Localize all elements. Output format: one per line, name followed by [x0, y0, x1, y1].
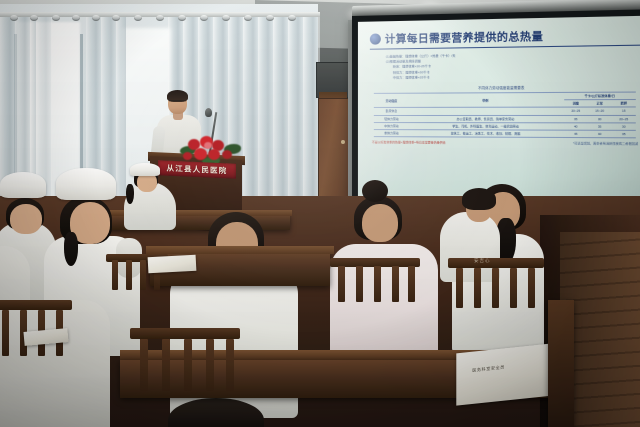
- microphone-icon: [205, 108, 212, 117]
- paper-notes[interactable]: [148, 255, 197, 273]
- table-row: 卧床休息 20~25 15~20 15: [374, 107, 636, 115]
- table-row: 重体力劳动 建筑工、搬运工、冶炼工、伐木、收割、挖掘、舞蹈 45 40 35: [374, 130, 636, 138]
- slide-title: 计算每日需要营养提供的总热量: [385, 28, 543, 46]
- table-cell: 15: [612, 107, 636, 115]
- table-cell: [409, 108, 564, 116]
- table-header-cell: 举例: [409, 92, 564, 107]
- table-header-cell: 劳动强度: [374, 93, 410, 108]
- table-cell: 30: [612, 123, 636, 131]
- table-cell: 建筑工、搬运工、冶炼工、伐木、收割、挖掘、舞蹈: [409, 130, 564, 138]
- room-door[interactable]: [318, 98, 350, 198]
- table-cell: 重体力劳动: [374, 130, 410, 137]
- door-knob-icon[interactable]: [341, 140, 345, 144]
- bench-top: [146, 246, 334, 254]
- numbered-bullet-icon: [370, 33, 381, 44]
- table-cell: 45: [564, 130, 588, 138]
- lecture-room-photo: 计算每日需要营养提供的总热量 (1)基础热量：理想体重（公斤）×热量（千卡）/天…: [0, 0, 640, 427]
- table-cell: 35: [588, 123, 612, 131]
- slide-data-table: 劳动强度 举例 千卡/公斤标准体重/日 消瘦 正常 肥胖 卧床休息 20~25 …: [374, 92, 636, 139]
- paper-sign-table[interactable]: 医务科室安全员: [456, 342, 561, 405]
- table-cell: 15~20: [588, 107, 612, 115]
- table-cell: 20~25: [564, 107, 588, 115]
- table-header-cell: 肥胖: [612, 100, 636, 108]
- table-cell: 35: [564, 115, 588, 123]
- table-header-cell: 正常: [588, 100, 612, 108]
- table-cell: 卧床休息: [374, 108, 410, 115]
- slide-body: (1)基础热量：理想体重（公斤）×热量（千卡）/天 (2)根据活动量及病情调整 …: [370, 51, 640, 81]
- table-header-cell: 消瘦: [564, 100, 588, 108]
- chair-label: 安吉心: [474, 258, 491, 264]
- slide-title-bar: 计算每日需要营养提供的总热量: [370, 27, 640, 50]
- paper-sign-table-text: 医务科室安全员: [472, 364, 505, 373]
- slide-footnote-left: 不是以标准体重的热量×理想体重=每日总需要量热量供给: [372, 140, 446, 144]
- eyeglasses-icon: [169, 100, 186, 105]
- table-cell: 40: [564, 123, 588, 131]
- table-cell: 40: [588, 130, 612, 138]
- slide-body-line: 中体力：理想体重×35千卡: [386, 73, 640, 81]
- slide-table-caption: 不同体力劳动强度能量需要表: [370, 84, 640, 91]
- table-cell: 20~25: [612, 115, 636, 123]
- desk-top: [88, 210, 292, 216]
- table-cell: 轻体力劳动: [374, 115, 410, 122]
- table-cell: 30: [588, 115, 612, 123]
- podium-banner-text: 从江县人民医院: [167, 163, 228, 177]
- aisle-rail: [548, 300, 574, 427]
- slide-footnotes: 不是以标准体重的热量×理想体重=每日总需要量热量供给 *可适当增加，若患者有消耗…: [370, 140, 640, 146]
- slide-footnote-right: *可适当增加，若患者有消耗性疾病二者相加减: [573, 141, 638, 146]
- table-cell: 中体力劳动: [374, 122, 410, 129]
- table-cell: 35: [612, 130, 636, 138]
